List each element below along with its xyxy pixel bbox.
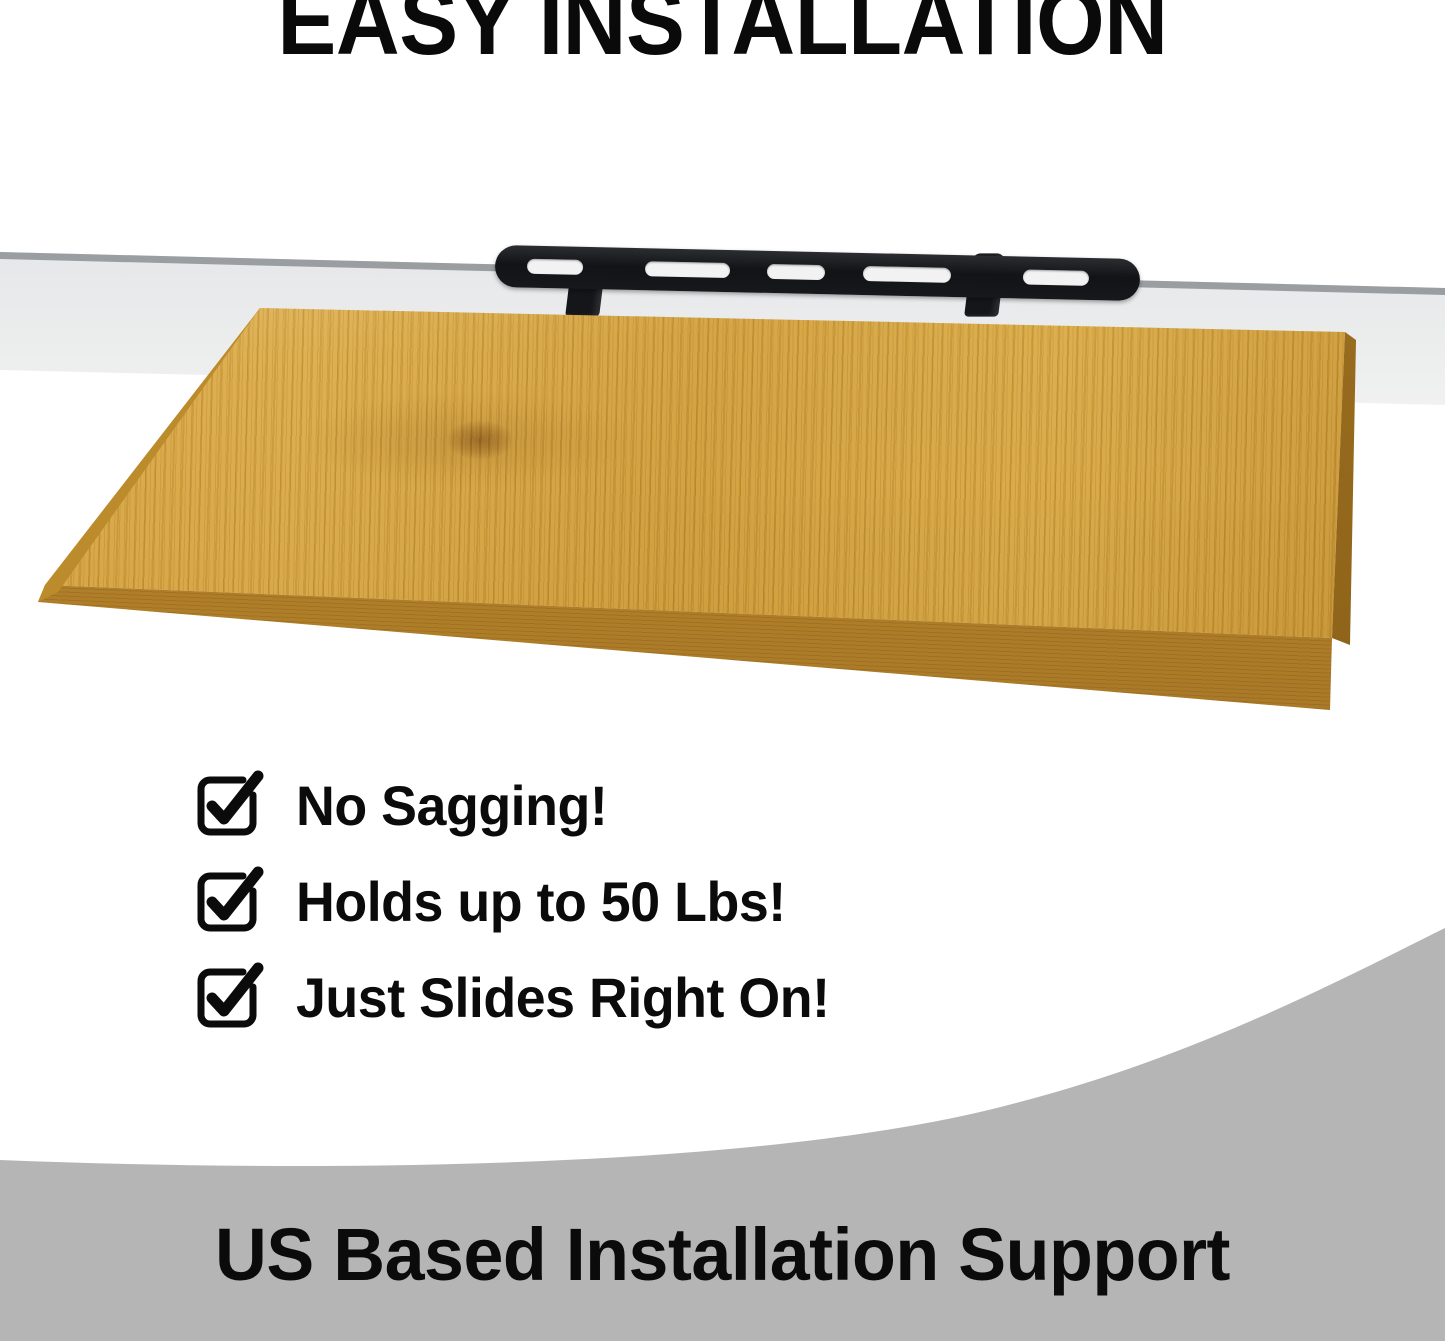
list-item: Holds up to 50 Lbs! (196, 854, 1096, 950)
checkbox-checked-icon (196, 871, 258, 933)
product-photo (0, 190, 1445, 750)
list-item-label: Holds up to 50 Lbs! (296, 874, 786, 930)
page-title: EASY INSTALLATION (58, 0, 1387, 70)
wood-shelf (0, 190, 1445, 750)
marketing-image: EASY INSTALLATION (0, 0, 1445, 1341)
footer-tagline: US Based Installation Support (22, 1218, 1424, 1292)
feature-checklist: No Sagging! Holds up to 50 Lbs! Just Sli… (196, 758, 1096, 1046)
list-item-label: No Sagging! (296, 778, 607, 834)
checkbox-checked-icon (196, 967, 258, 1029)
checkbox-checked-icon (196, 775, 258, 837)
list-item-label: Just Slides Right On! (296, 970, 830, 1026)
list-item: No Sagging! (196, 758, 1096, 854)
list-item: Just Slides Right On! (196, 950, 1096, 1046)
